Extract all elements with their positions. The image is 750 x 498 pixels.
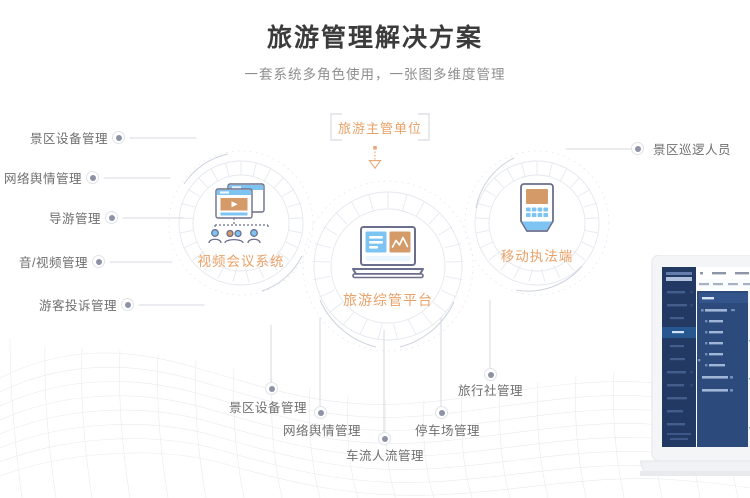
- node-mobile-enforcement[interactable]: 移动执法端: [477, 181, 597, 264]
- bottom-item-dot-2[interactable]: [378, 432, 391, 445]
- node-label-mobile-enforcement: 移动执法端: [477, 250, 597, 264]
- bottom-item-dot-3[interactable]: [435, 406, 448, 419]
- top-authority-badge[interactable]: 旅游主管单位: [330, 113, 430, 141]
- chevron-down-icon: [360, 146, 390, 172]
- admin-dashboard-screenshot: [640, 255, 750, 498]
- poster-canvas: 旅游管理解决方案 一套系统多角色使用，一张图多维度管理: [0, 0, 750, 498]
- laptop-dashboard-icon: [345, 224, 431, 286]
- page-title: 旅游管理解决方案: [0, 26, 750, 51]
- left-item-label-0: 景区设备管理: [0, 133, 108, 146]
- bottom-item-label-1: 网络舆情管理: [283, 425, 361, 438]
- badge-bracket: [330, 113, 430, 141]
- left-item-dot-3[interactable]: [92, 255, 105, 268]
- left-item-dot-2[interactable]: [105, 211, 118, 224]
- page-subtitle: 一套系统多角色使用，一张图多维度管理: [0, 68, 750, 82]
- bottom-item-label-4: 旅行社管理: [458, 385, 523, 398]
- bottom-item-label-0: 景区设备管理: [229, 402, 307, 415]
- node-video-conference[interactable]: 视频会议系统: [181, 178, 301, 269]
- bottom-item-dot-1[interactable]: [314, 406, 327, 419]
- node-label-video-conference: 视频会议系统: [181, 255, 301, 269]
- node-platform[interactable]: 旅游综管平台: [328, 224, 448, 307]
- left-item-label-4: 游客投诉管理: [0, 300, 117, 313]
- left-item-label-1: 网络舆情管理: [0, 173, 82, 186]
- handheld-terminal-icon: [511, 181, 563, 243]
- bottom-item-label-3: 停车场管理: [415, 425, 480, 438]
- left-item-dot-4[interactable]: [121, 298, 134, 311]
- left-item-label-2: 导游管理: [0, 213, 101, 226]
- left-item-label-3: 音/视频管理: [0, 257, 88, 270]
- right-item-label-0: 景区巡逻人员: [653, 144, 731, 157]
- left-item-dot-0[interactable]: [112, 131, 125, 144]
- left-item-dot-1[interactable]: [86, 171, 99, 184]
- right-item-dot-0[interactable]: [631, 142, 644, 155]
- node-label-platform: 旅游综管平台: [328, 293, 448, 307]
- bottom-item-label-2: 车流人流管理: [346, 450, 424, 463]
- header: 旅游管理解决方案 一套系统多角色使用，一张图多维度管理: [0, 0, 750, 82]
- bottom-item-dot-0[interactable]: [265, 382, 278, 395]
- video-conference-icon: [202, 178, 280, 248]
- bottom-item-dot-4[interactable]: [484, 368, 497, 381]
